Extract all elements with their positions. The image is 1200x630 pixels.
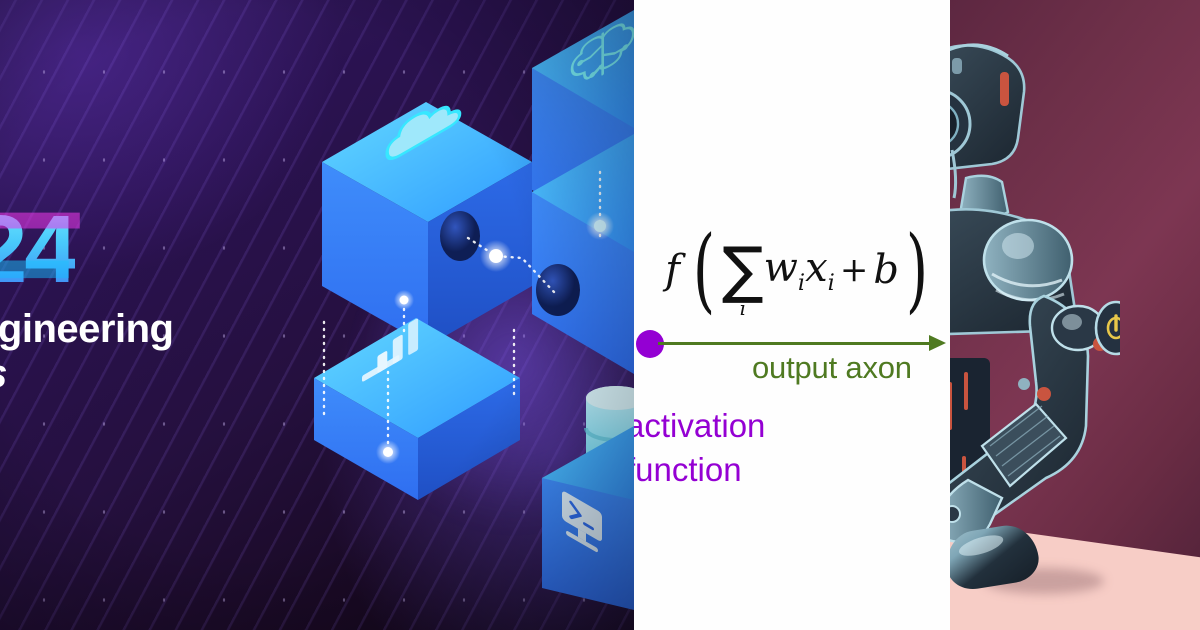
cube-port: [536, 264, 580, 316]
promo-headline-block: 24 ngineering ls: [0, 206, 304, 395]
cube-port: [440, 211, 480, 261]
panel-robot-illustration: [950, 0, 1200, 630]
formula-open-paren: (: [693, 230, 715, 309]
formula-close-paren: ): [906, 230, 928, 309]
weight-index: i: [798, 270, 805, 296]
formula-function-f: f: [665, 247, 680, 293]
panel-artificial-neuron-diagram: f ( ∑ i wixi + b ) output axon activatio…: [634, 0, 950, 630]
collage-stage: 24 ngineering ls f ( ∑ i wixi + b ) outp…: [0, 0, 1200, 630]
promo-headline-line2: ls: [0, 353, 304, 395]
isometric-cube-scene: [300, 0, 634, 630]
robot-shoulder-joint: [984, 220, 1072, 300]
promo-headline-line1: ngineering: [0, 308, 304, 350]
weight-symbol: w: [764, 245, 798, 291]
neuron-formula: f ( ∑ i wixi + b ): [650, 214, 950, 326]
cube-analytics: [314, 318, 520, 500]
activation-function-label: activation function: [634, 404, 765, 491]
cube-cloud: [322, 90, 532, 346]
promo-year: 24: [0, 206, 75, 294]
input-index: i: [828, 270, 835, 296]
axon-arrowhead: [929, 335, 946, 351]
cube-terminal: [542, 426, 634, 610]
activation-label-line2: function: [634, 448, 765, 492]
formula-plus-sign: +: [840, 250, 869, 290]
input-symbol: x: [805, 245, 828, 291]
axon-line: [658, 342, 930, 345]
formula-weight-term: wixi: [764, 245, 835, 296]
panel-data-engineering-promo: 24 ngineering ls: [0, 0, 634, 630]
activation-label-line1: activation: [634, 404, 765, 448]
output-axon-label: output axon: [752, 350, 912, 386]
formula-summation-sign: ∑ i: [722, 245, 764, 295]
formula-bias-term: b: [873, 247, 899, 293]
mouse-highlight: [957, 531, 1006, 560]
iso-scene-svg: [300, 0, 634, 630]
robot-illustration: [950, 28, 1120, 588]
formula-sum-index: i: [740, 300, 746, 316]
